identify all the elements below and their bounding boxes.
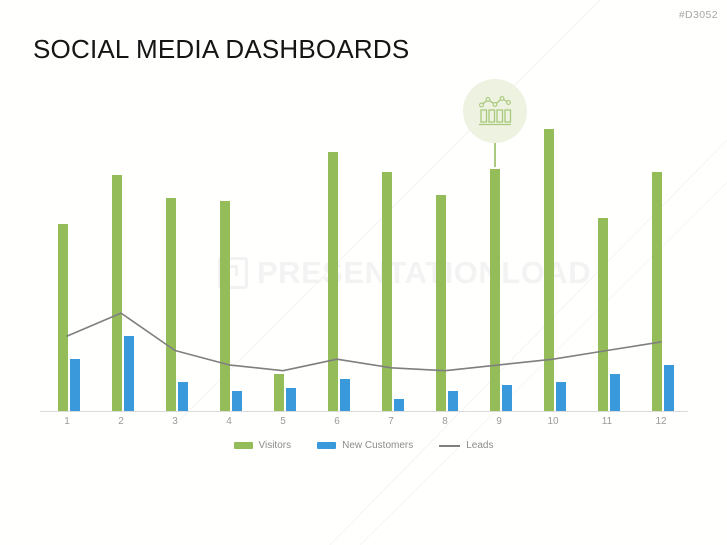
bar-chart-line-icon <box>477 93 513 129</box>
x-axis-line <box>40 411 688 412</box>
x-axis-label-8: 8 <box>425 416 465 427</box>
x-axis-label-2: 2 <box>101 416 141 427</box>
x-axis-label-3: 3 <box>155 416 195 427</box>
slide-code: #D3052 <box>679 9 718 21</box>
chart-legend: VisitorsNew CustomersLeads <box>0 440 727 451</box>
x-axis-label-7: 7 <box>371 416 411 427</box>
callout-badge[interactable] <box>463 79 527 143</box>
page-title: SOCIAL MEDIA DASHBOARDS <box>33 34 409 65</box>
leads-line-series <box>40 120 688 412</box>
chart-container <box>40 120 688 416</box>
x-axis-label-9: 9 <box>479 416 519 427</box>
legend-color-swatch <box>317 442 336 449</box>
callout-stem <box>494 141 496 167</box>
x-axis-label-1: 1 <box>47 416 87 427</box>
x-axis-labels: 123456789101112 <box>40 416 688 432</box>
slide-canvas: #D3052 SOCIAL MEDIA DASHBOARDS PRESENTAT… <box>0 0 727 545</box>
chart-plot-area <box>40 120 688 412</box>
x-axis-label-5: 5 <box>263 416 303 427</box>
x-axis-label-11: 11 <box>587 416 627 427</box>
legend-color-swatch <box>234 442 253 449</box>
legend-label: New Customers <box>342 440 413 451</box>
x-axis-label-6: 6 <box>317 416 357 427</box>
legend-label: Visitors <box>259 440 292 451</box>
legend-line-marker <box>439 445 460 447</box>
x-axis-label-4: 4 <box>209 416 249 427</box>
x-axis-label-12: 12 <box>641 416 681 427</box>
legend-item-visitors[interactable]: Visitors <box>234 440 292 451</box>
legend-item-new-customers[interactable]: New Customers <box>317 440 413 451</box>
legend-label: Leads <box>466 440 493 451</box>
x-axis-label-10: 10 <box>533 416 573 427</box>
legend-item-leads[interactable]: Leads <box>439 440 493 451</box>
